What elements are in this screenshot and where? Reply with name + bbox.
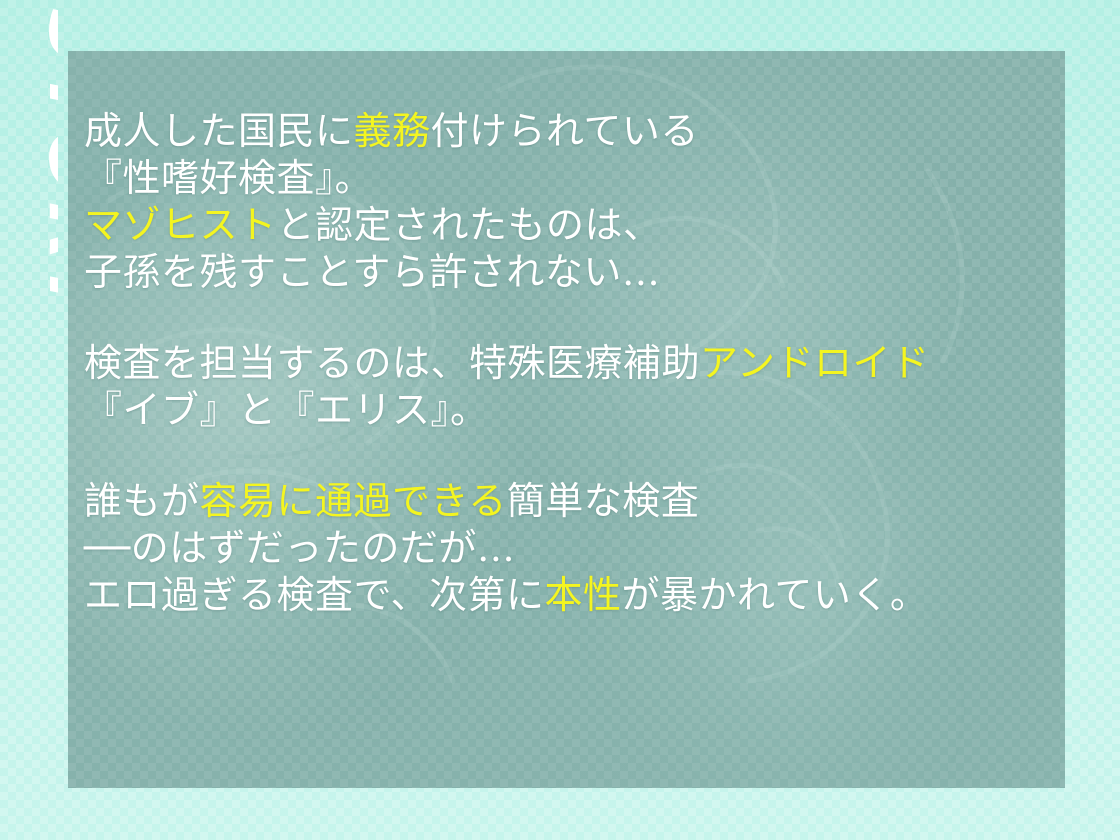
story-text: エロ過ぎる検査で、次第に [84, 573, 544, 617]
story-text-block: 成人した国民に義務付けられている『性嗜好検査』。マゾヒストと認定されたものは、子… [84, 108, 984, 619]
story-highlight-text: マゾヒスト [84, 203, 277, 247]
story-line: マゾヒストと認定されたものは、 [84, 202, 984, 249]
story-text: 『イブ』と『エリス』。 [84, 388, 489, 432]
story-line: 誰もが容易に通過できる簡単な検査 [84, 478, 984, 525]
story-label-svg: STORY [0, 0, 58, 360]
story-vertical-label: STORY [0, 0, 58, 360]
story-line: 成人した国民に義務付けられている [84, 108, 984, 155]
story-line: 検査を担当するのは、特殊医療補助アンドロイド [84, 340, 984, 387]
story-highlight-text: 容易に通過できる [200, 479, 507, 523]
story-line: 『イブ』と『エリス』。 [84, 387, 984, 434]
story-text: 簡単な検査 [507, 479, 700, 523]
story-text: 子孫を残すことすら許されない… [84, 250, 660, 294]
story-line: 子孫を残すことすら許されない… [84, 249, 984, 296]
story-text: と認定されたものは、 [277, 203, 662, 247]
story-label-text: STORY [31, 8, 58, 325]
story-line: エロ過ぎる検査で、次第に本性が暴かれていく。 [84, 572, 984, 619]
story-highlight-text: アンドロイド [700, 341, 929, 385]
story-text: 付けられている [431, 109, 699, 153]
story-highlight-text: 本性 [544, 573, 621, 617]
story-section: STORY 成人した国民に義務付けられている『性嗜好検査』。マゾヒストと認定され… [0, 0, 1120, 840]
story-text: 誰もが [84, 479, 200, 523]
story-text: が暴かれていく。 [622, 573, 929, 617]
story-text: 成人した国民に [84, 109, 354, 153]
story-line: ──のはずだったのだが… [84, 525, 984, 572]
story-line: 『性嗜好検査』。 [84, 155, 984, 202]
story-text: ──のはずだったのだが… [84, 526, 515, 570]
story-highlight-text: 義務 [354, 109, 431, 153]
story-text: 『性嗜好検査』。 [84, 156, 373, 200]
story-paragraph: 検査を担当するのは、特殊医療補助アンドロイド『イブ』と『エリス』。 [84, 340, 984, 434]
story-paragraph: 誰もが容易に通過できる簡単な検査──のはずだったのだが…エロ過ぎる検査で、次第に… [84, 478, 984, 619]
story-paragraph: 成人した国民に義務付けられている『性嗜好検査』。マゾヒストと認定されたものは、子… [84, 108, 984, 296]
story-text: 検査を担当するのは、特殊医療補助 [84, 341, 700, 385]
